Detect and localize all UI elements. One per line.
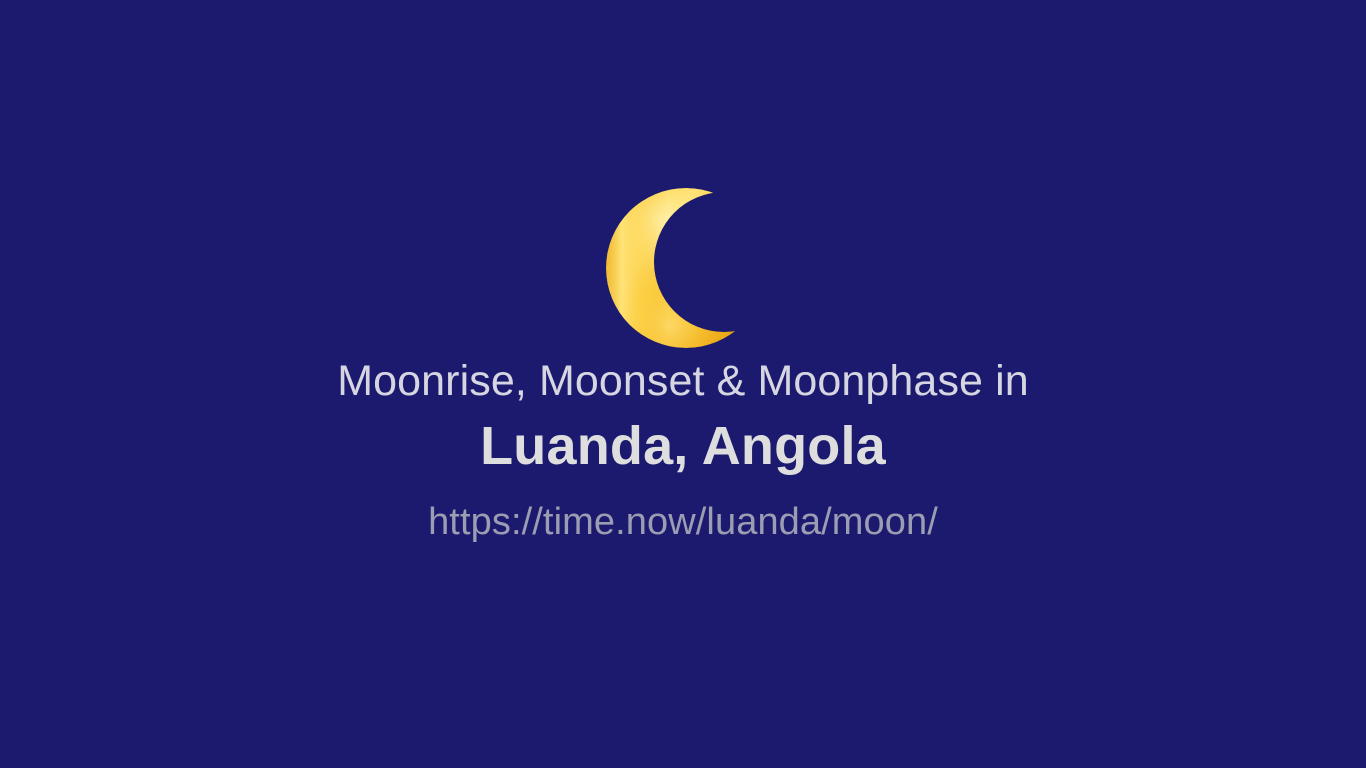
location-title: Luanda, Angola: [0, 419, 1366, 473]
headline-block: Moonrise, Moonset & Moonphase in Luanda,…: [0, 360, 1366, 541]
crescent-moon-icon: [600, 182, 772, 354]
page-url: https://time.now/luanda/moon/: [0, 503, 1366, 541]
page-title: Moonrise, Moonset & Moonphase in: [0, 360, 1366, 403]
moon-info-card: Moonrise, Moonset & Moonphase in Luanda,…: [0, 0, 1366, 768]
